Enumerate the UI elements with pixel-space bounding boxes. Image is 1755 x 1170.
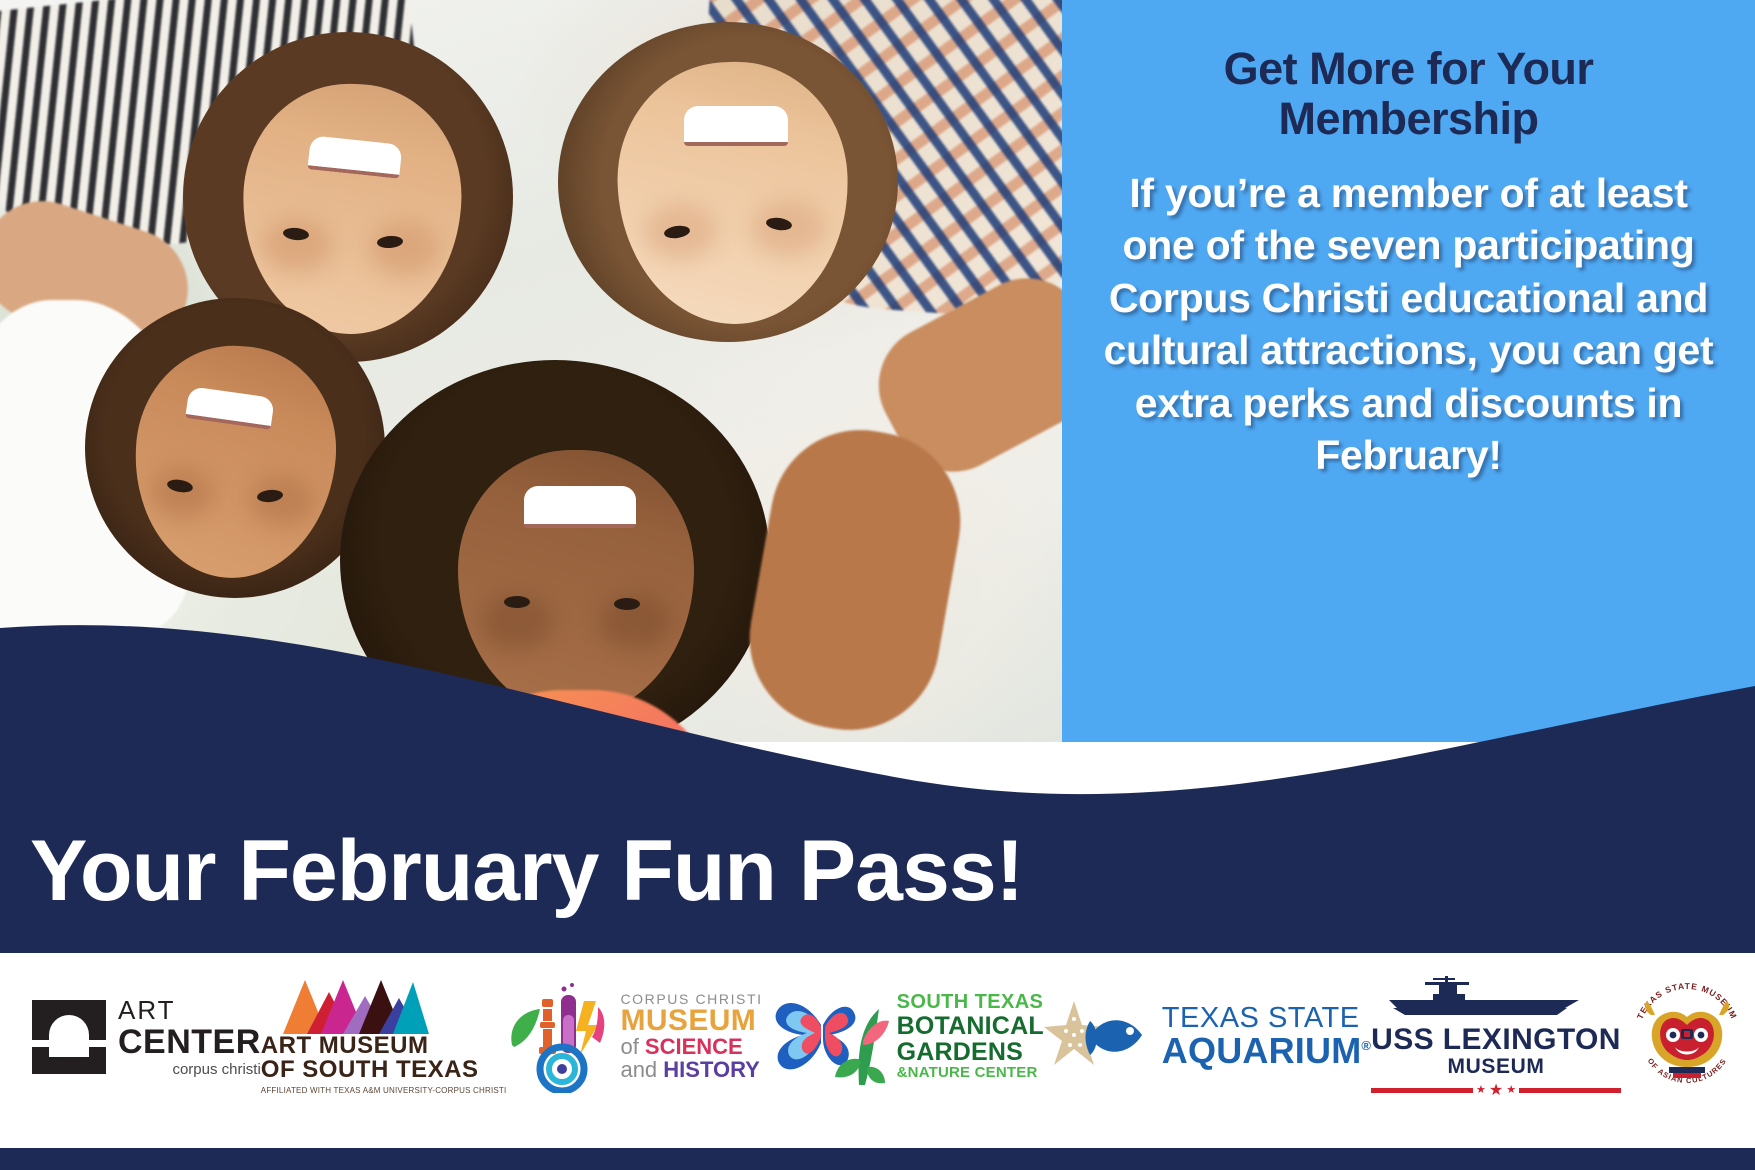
logo-texas-state-aquarium[interactable]: TEXAS STATE AQUARIUM® <box>1044 999 1371 1075</box>
mosh-line3: of SCIENCE <box>620 1036 762 1058</box>
logo-corpus-christi-museum-of-science-and-history[interactable]: CORPUS CHRISTI MUSEUM of SCIENCE and HIS… <box>506 981 762 1093</box>
partner-logo-strip: ART CENTER corpus christi ART MUSEUM OF … <box>0 953 1755 1120</box>
uss-line2: MUSEUM <box>1371 1055 1621 1078</box>
aquarium-line1: TEXAS STATE <box>1162 1004 1371 1033</box>
logo-art-museum-of-south-texas[interactable]: ART MUSEUM OF SOUTH TEXAS AFFILIATED WIT… <box>261 978 507 1096</box>
art-center-line2: CENTER <box>118 1025 261 1059</box>
botanical-line2: BOTANICAL <box>897 1013 1044 1039</box>
art-center-line3: corpus christi <box>118 1062 261 1077</box>
child-smile <box>524 486 636 528</box>
panel-title: Get More for Your Membership <box>1096 44 1721 145</box>
february-fun-pass-poster: Get More for Your Membership If you’re a… <box>0 0 1755 1170</box>
bottom-navy-rule <box>0 1148 1755 1170</box>
page-headline: Your February Fun Pass! <box>30 828 1330 914</box>
mosh-line4: and HISTORY <box>620 1059 762 1081</box>
child-eye <box>614 598 640 610</box>
art-center-line1: ART <box>118 997 261 1023</box>
art-museum-fine-print: AFFILIATED WITH TEXAS A&M UNIVERSITY-COR… <box>261 1086 507 1095</box>
logo-south-texas-botanical-gardens[interactable]: SOUTH TEXAS BOTANICAL GARDENS &NATURE CE… <box>763 981 1044 1093</box>
mosh-line2: MUSEUM <box>620 1006 762 1037</box>
aircraft-carrier-icon <box>1389 974 1603 1020</box>
art-museum-line1: ART MUSEUM <box>261 1034 507 1058</box>
child-eye <box>504 596 530 608</box>
botanical-line3: GARDENS <box>897 1039 1044 1065</box>
panel-body-text: If you’re a member of at least one of th… <box>1096 167 1721 482</box>
botanical-line1: SOUTH TEXAS <box>897 992 1044 1013</box>
butterfly-flower-icon <box>763 981 889 1093</box>
botanical-line4: &NATURE CENTER <box>897 1065 1044 1081</box>
uss-line1: USS LEXINGTON <box>1371 1025 1621 1055</box>
child-smile <box>684 106 788 146</box>
asian-cultures-emblem-icon: TEXAS STATE MUSEUM OF ASIAN CULTURES <box>1621 971 1753 1103</box>
science-history-symbols-icon <box>506 981 610 1093</box>
starfish-fish-icon <box>1044 999 1152 1075</box>
art-museum-triangles-icon <box>261 978 429 1034</box>
uss-star-rule: ★ ★ ★ <box>1371 1083 1621 1099</box>
art-museum-line2: OF SOUTH TEXAS <box>261 1058 507 1082</box>
logo-art-center-corpus-christi[interactable]: ART CENTER corpus christi <box>32 997 261 1077</box>
art-center-mark-icon <box>32 1000 106 1074</box>
logo-texas-state-museum-of-asian-cultures[interactable]: TEXAS STATE MUSEUM OF ASIAN CULTURES <box>1621 971 1753 1103</box>
logo-uss-lexington-museum[interactable]: USS LEXINGTON MUSEUM ★ ★ ★ <box>1371 974 1621 1098</box>
aquarium-line2: AQUARIUM® <box>1162 1033 1371 1069</box>
